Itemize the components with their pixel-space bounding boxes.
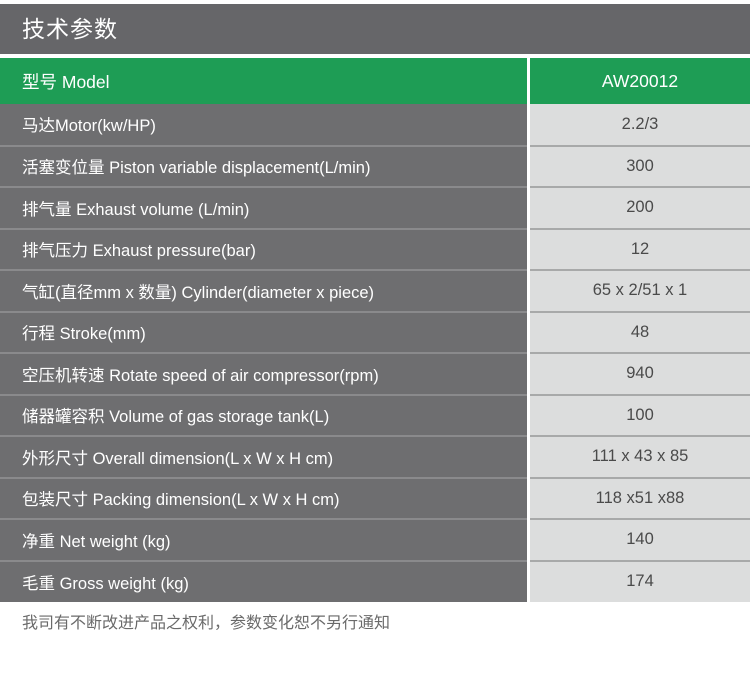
row-label-cell: 外形尺寸 Overall dimension(L x W x H cm) [0,436,527,478]
row-value-cell: 300 [530,146,750,188]
table-row: 储器罐容积 Volume of gas storage tank(L)100 [0,395,750,437]
row-label-cell: 毛重 Gross weight (kg) [0,561,527,603]
table-row: 包装尺寸 Packing dimension(L x W x H cm)118 … [0,478,750,520]
row-label-cell: 排气量 Exhaust volume (L/min) [0,187,527,229]
table-row: 行程 Stroke(mm)48 [0,312,750,354]
table-header-row: 型号 Model AW20012 [0,58,750,104]
table-body: 型号 Model AW20012 马达Motor(kw/HP)2.2/3活塞变位… [0,58,750,602]
row-value-cell: 12 [530,229,750,271]
table-row: 毛重 Gross weight (kg)174 [0,561,750,603]
table-row: 气缸(直径mm x 数量) Cylinder(diameter x piece)… [0,270,750,312]
specifications-table: 型号 Model AW20012 马达Motor(kw/HP)2.2/3活塞变位… [0,58,750,602]
table-row: 外形尺寸 Overall dimension(L x W x H cm)111 … [0,436,750,478]
header-value-cell: AW20012 [530,58,750,104]
row-label-cell: 行程 Stroke(mm) [0,312,527,354]
footer-note: 我司有不断改进产品之权利，参数变化恕不另行通知 [0,616,750,632]
page-title-bar: 技术参数 [0,4,750,54]
row-value-cell: 200 [530,187,750,229]
page-title: 技术参数 [0,18,118,41]
row-label-cell: 活塞变位量 Piston variable displacement(L/min… [0,146,527,188]
row-value-cell: 174 [530,561,750,603]
row-value-cell: 111 x 43 x 85 [530,436,750,478]
row-value-cell: 118 x51 x88 [530,478,750,520]
row-value-cell: 2.2/3 [530,104,750,146]
table-row: 马达Motor(kw/HP)2.2/3 [0,104,750,146]
header-label-cell: 型号 Model [0,58,527,104]
row-value-cell: 100 [530,395,750,437]
table-row: 排气压力 Exhaust pressure(bar)12 [0,229,750,271]
table-row: 空压机转速 Rotate speed of air compressor(rpm… [0,353,750,395]
table-row: 活塞变位量 Piston variable displacement(L/min… [0,146,750,188]
row-value-cell: 140 [530,519,750,561]
row-label-cell: 气缸(直径mm x 数量) Cylinder(diameter x piece) [0,270,527,312]
table-row: 排气量 Exhaust volume (L/min)200 [0,187,750,229]
row-label-cell: 马达Motor(kw/HP) [0,104,527,146]
row-value-cell: 65 x 2/51 x 1 [530,270,750,312]
row-value-cell: 940 [530,353,750,395]
spec-sheet-page: 技术参数 型号 Model AW20012 马达Motor(kw/HP)2.2/… [0,0,750,674]
row-label-cell: 排气压力 Exhaust pressure(bar) [0,229,527,271]
row-label-cell: 净重 Net weight (kg) [0,519,527,561]
row-label-cell: 空压机转速 Rotate speed of air compressor(rpm… [0,353,527,395]
row-label-cell: 储器罐容积 Volume of gas storage tank(L) [0,395,527,437]
table-row: 净重 Net weight (kg)140 [0,519,750,561]
row-value-cell: 48 [530,312,750,354]
row-label-cell: 包装尺寸 Packing dimension(L x W x H cm) [0,478,527,520]
